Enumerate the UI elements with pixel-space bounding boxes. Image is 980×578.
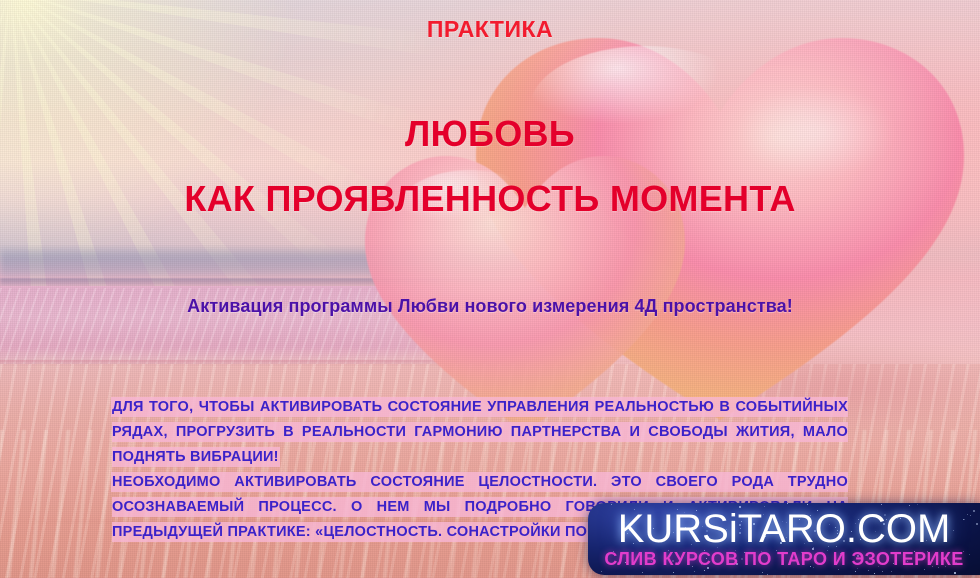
presentation-slide: ПРАКТИКА ЛЮБОВЬ КАК ПРОЯВЛЕННОСТЬ МОМЕНТ… — [0, 0, 980, 578]
body-paragraph-1: ДЛЯ ТОГО, ЧТОБЫ АКТИВИРОВАТЬ СОСТОЯНИЕ У… — [112, 395, 848, 470]
body-paragraph-1-text: ДЛЯ ТОГО, ЧТОБЫ АКТИВИРОВАТЬ СОСТОЯНИЕ У… — [112, 398, 848, 466]
page-title-line-1: ЛЮБОВЬ — [0, 113, 980, 155]
watermark-tagline: СЛИВ КУРСОВ ПО ТАРО И ЭЗОТЕРИКЕ — [588, 549, 980, 570]
watermark-banner: KURSiTARO.COM СЛИВ КУРСОВ ПО ТАРО И ЭЗОТ… — [588, 503, 980, 575]
slide-subtitle: Активация программы Любви нового измерен… — [0, 296, 980, 317]
slide-content: ПРАКТИКА ЛЮБОВЬ КАК ПРОЯВЛЕННОСТЬ МОМЕНТ… — [0, 0, 980, 578]
slide-kicker: ПРАКТИКА — [0, 16, 980, 43]
page-title-line-2: КАК ПРОЯВЛЕННОСТЬ МОМЕНТА — [0, 178, 980, 220]
watermark-site-name: KURSiTARO.COM — [588, 507, 980, 551]
